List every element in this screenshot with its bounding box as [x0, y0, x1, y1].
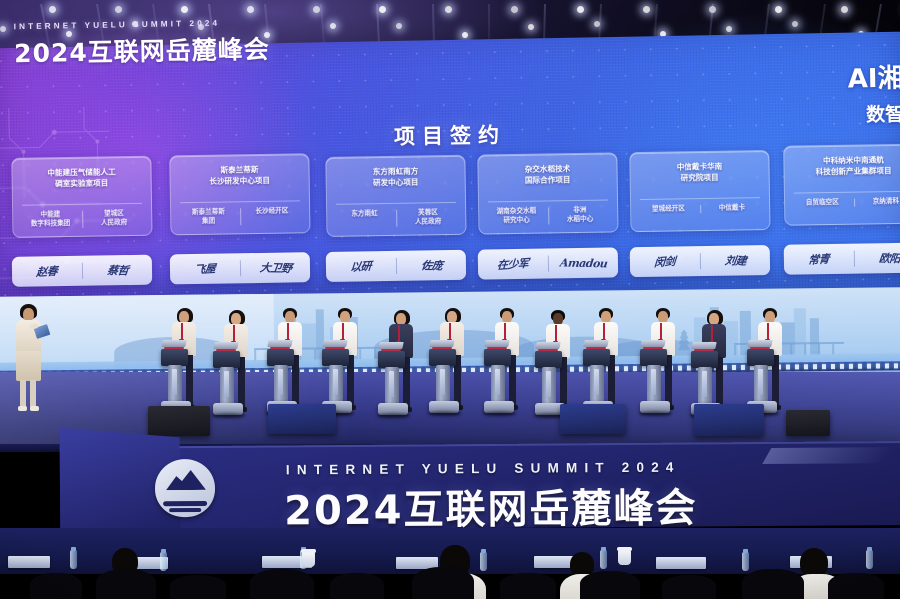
lanyard [603, 323, 605, 340]
host-presenter [6, 304, 52, 414]
stage-monitor-wedge-4 [694, 404, 764, 436]
foreground-attendee-silhouette [742, 569, 804, 599]
footlight-pixel [885, 363, 889, 368]
stage-monitor-wedge-2 [268, 404, 336, 434]
project-signing-card: 杂交水稻技术国际合作项目湖南杂交水稻研究中心非洲水稻中心 [477, 152, 618, 234]
stage-monitor-wedge-1 [148, 406, 210, 436]
signature-box: 飞屋大卫野 [170, 252, 310, 284]
project-signing-card: 中信戴卡华南研究院项目望城经开区中信戴卡 [629, 150, 770, 232]
footlight-pixel [804, 364, 808, 369]
lanyard [233, 325, 235, 342]
spotlight [379, 6, 386, 13]
lanyard [398, 325, 400, 342]
bottle-cap [161, 549, 166, 553]
footlight-pixel [840, 364, 844, 369]
podium-column-light [651, 369, 656, 395]
foreground-attendee-silhouette [30, 573, 82, 599]
footlight-pixel [876, 364, 880, 369]
card-divider [336, 202, 456, 205]
signature-left: 赵春 [12, 261, 82, 282]
lanyard [504, 323, 506, 340]
footlight-pixel [795, 364, 799, 369]
foreground-attendee-silhouette [662, 575, 716, 599]
tea-mug [618, 550, 631, 565]
signing-podium [639, 340, 683, 418]
podium-wheel-shadow [377, 413, 410, 418]
lanyard [660, 323, 662, 340]
signature-right: 大卫野 [239, 259, 310, 276]
signature-left: 常青 [783, 249, 853, 270]
foreground-attendee-silhouette [580, 571, 640, 599]
podium-wheel-shadow [639, 411, 672, 416]
project-name: 杂交水稻技术国际合作项目 [485, 162, 609, 186]
podium-head-unit [640, 349, 667, 366]
project-signing-card: 斯泰兰蒂斯长沙研发中心项目斯泰兰蒂斯集团长沙经开区 [169, 153, 310, 235]
party-right: 中信戴卡 [701, 203, 764, 213]
podium-head-unit [267, 349, 294, 366]
project-name: 中科纳米中南通航科技创新产业集群项目 [791, 154, 900, 178]
banner-highlight-stripe [762, 447, 891, 464]
host-leg-right [30, 380, 36, 408]
signing-parties: 中能建数字科技集团望城区人民政府 [19, 209, 145, 229]
host-skirt [16, 351, 41, 381]
name-plate [8, 556, 50, 568]
signature-left: 飞屋 [169, 258, 239, 279]
signature-left: 闵剑 [629, 251, 699, 272]
foreground-attendee-silhouette [828, 573, 884, 599]
podium-wheel-shadow [212, 413, 245, 418]
signature-right: 佐庞 [395, 257, 466, 274]
lanyard [181, 323, 183, 340]
lanyard [555, 325, 557, 342]
foreground-attendee-silhouette [330, 573, 384, 599]
tea-mug [302, 552, 315, 567]
signature-box: 闵剑刘建 [630, 245, 770, 277]
party-left: 自贸临空区 [791, 198, 854, 208]
project-signing-card: 中能建压气储能人工碉室实验室项目中能建数字科技集团望城区人民政府 [11, 156, 152, 238]
host-shoe-right [30, 406, 39, 411]
spotlight [396, 23, 402, 29]
party-right: 非洲水稻中心 [549, 205, 612, 224]
podium-tablet-icon [484, 340, 509, 347]
card-divider [180, 200, 300, 203]
podium-head-unit [691, 351, 718, 368]
podium-head-unit [583, 349, 610, 366]
podium-column-light [278, 369, 283, 395]
party-left: 望城经开区 [637, 204, 700, 214]
lanyard [287, 323, 289, 340]
podium-head-unit [535, 351, 562, 368]
logo-peak-shape [166, 470, 206, 490]
footlight-pixel [741, 365, 745, 370]
footlight-pixel [822, 364, 826, 369]
bottle-cap [601, 547, 606, 551]
signing-parties: 望城经开区中信戴卡 [637, 203, 763, 214]
signature-box: 在少军Amadou [478, 247, 618, 279]
signing-parties: 湖南杂交水稻研究中心非洲水稻中心 [485, 205, 611, 225]
water-bottle [70, 550, 77, 569]
podium-column-light [172, 369, 177, 395]
spotlight [330, 23, 336, 29]
spotlight [445, 6, 452, 13]
mug-lid [617, 547, 632, 551]
logo-wave-1 [163, 501, 207, 506]
signature-box: 赵春蔡哲 [12, 255, 152, 287]
signing-podium [377, 342, 421, 420]
footlight-pixel [849, 364, 853, 369]
slogan-line-1: AI湘 [848, 58, 900, 96]
attendee-head [800, 548, 828, 577]
podium-tablet-icon [429, 340, 454, 347]
project-name: 中信戴卡华南研究院项目 [637, 160, 761, 184]
project-name: 东方雨虹南方研发中心项目 [333, 165, 457, 189]
podium-column-light [758, 369, 763, 395]
party-left: 斯泰兰蒂斯集团 [177, 207, 240, 226]
signing-podium [212, 342, 256, 420]
podium-head-unit [378, 351, 405, 368]
party-left: 湖南杂交水稻研究中心 [485, 206, 548, 225]
signature-box: 常青欧阳 [784, 243, 900, 275]
signature-box: 以研佐庞 [326, 250, 466, 282]
conference-stage-photo: INTERNET YUELU SUMMIT 2024 2024互联网岳麓峰会 A… [0, 0, 900, 599]
signature-right: Amadou [548, 256, 619, 270]
card-divider [22, 203, 142, 206]
footlight-pixel [858, 364, 862, 369]
signing-parties: 自贸临空区京纳清科 [791, 197, 900, 208]
party-right: 长沙经开区 [241, 206, 304, 216]
host-shoe-left [18, 406, 27, 411]
podium-tablet-icon [535, 342, 560, 349]
water-bottle [742, 552, 749, 571]
summit-logo-lockup: INTERNET YUELU SUMMIT 2024 2024互联网岳麓峰会 [14, 18, 270, 70]
podium-column-light [389, 371, 394, 397]
podium-column-light [333, 369, 338, 395]
spotlight [462, 32, 468, 38]
podium-tablet-icon [213, 342, 238, 349]
foreground-attendee-silhouette [250, 569, 314, 599]
footlight-pixel [633, 366, 637, 371]
foreground-attendee-silhouette [412, 567, 474, 599]
bottle-cap [867, 547, 872, 551]
signature-left: 在少军 [477, 254, 547, 275]
summit-title-chinese: 2024互联网岳麓峰会 [14, 30, 270, 70]
mountain-cloud-logo-icon [155, 459, 215, 517]
lanyard [342, 323, 344, 340]
podium-head-unit [429, 349, 456, 366]
podium-tablet-icon [583, 340, 608, 347]
bottle-cap [71, 547, 76, 551]
podium-wheel-shadow [483, 411, 516, 416]
project-name: 中能建压气储能人工碉室实验室项目 [19, 166, 143, 190]
signing-parties: 东方雨虹芙蓉区人民政府 [333, 208, 459, 228]
signature-left: 以研 [325, 256, 395, 277]
bottle-cap [743, 549, 748, 553]
podium-head-unit [747, 349, 774, 366]
signature-right: 刘建 [699, 252, 770, 269]
party-left: 东方雨虹 [333, 209, 396, 219]
lanyard [449, 323, 451, 340]
project-signing-card: 东方雨虹南方研发中心项目东方雨虹芙蓉区人民政府 [325, 155, 466, 237]
podium-head-unit [213, 351, 240, 368]
mug-lid [301, 549, 316, 553]
signature-right: 欧阳 [853, 249, 900, 266]
lanyard [711, 325, 713, 342]
podium-head-unit [484, 349, 511, 366]
podium-tablet-icon [691, 342, 716, 349]
name-plate [656, 557, 706, 569]
foreground-attendee-silhouette [96, 569, 156, 599]
project-signing-card: 中科纳米中南通航科技创新产业集群项目自贸临空区京纳清科 [783, 144, 900, 226]
podium-column-light [495, 369, 500, 395]
signing-parties: 斯泰兰蒂斯集团长沙经开区 [177, 206, 303, 226]
signing-podium [483, 340, 527, 418]
stage-monitor-wedge-3 [560, 404, 626, 434]
podium-column-light [224, 371, 229, 397]
party-right: 京纳清科 [855, 197, 900, 207]
signing-podium [428, 340, 472, 418]
podium-tablet-icon [640, 340, 665, 347]
footlight-pixel [867, 364, 871, 369]
podium-column-light [702, 371, 707, 397]
project-card-row: 中能建压气储能人工碉室实验室项目中能建数字科技集团望城区人民政府斯泰兰蒂斯长沙研… [0, 146, 900, 255]
footlight-pixel [831, 364, 835, 369]
host-leg-left [20, 380, 26, 408]
foreground-attendee-silhouette [500, 573, 556, 599]
signature-right: 蔡哲 [82, 262, 153, 279]
foreground-attendee-silhouette [170, 575, 226, 599]
podium-tablet-icon [267, 340, 292, 347]
banner-title-english: INTERNET YUELU SUMMIT 2024 [286, 460, 681, 478]
water-bottle [160, 552, 167, 571]
water-bottle [866, 550, 873, 569]
stage-monitor-wedge-5 [786, 410, 830, 436]
party-right: 芙蓉区人民政府 [397, 208, 460, 227]
card-divider [488, 200, 608, 203]
podium-column-light [546, 371, 551, 397]
podium-wheel-shadow [428, 411, 461, 416]
card-divider [640, 197, 760, 200]
party-right: 望城区人民政府 [83, 209, 146, 228]
podium-tablet-icon [322, 340, 347, 347]
podium-column-light [440, 369, 445, 395]
podium-head-unit [322, 349, 349, 366]
stage-front-banner: INTERNET YUELU SUMMIT 2024 2024互联网岳麓峰会 [60, 441, 900, 531]
footlight-pixel [894, 363, 898, 368]
podium-tablet-icon [161, 340, 186, 347]
podium-column-light [594, 369, 599, 395]
podium-tablet-icon [378, 342, 403, 349]
footlight-pixel [813, 364, 817, 369]
podium-tablet-icon [747, 340, 772, 347]
lanyard [767, 323, 769, 340]
podium-head-unit [161, 349, 188, 366]
party-left: 中能建数字科技集团 [19, 210, 82, 229]
card-divider [794, 191, 900, 194]
logo-wave-2 [169, 508, 201, 512]
project-name: 斯泰兰蒂斯长沙研发中心项目 [177, 163, 301, 187]
spotlight [511, 6, 518, 13]
